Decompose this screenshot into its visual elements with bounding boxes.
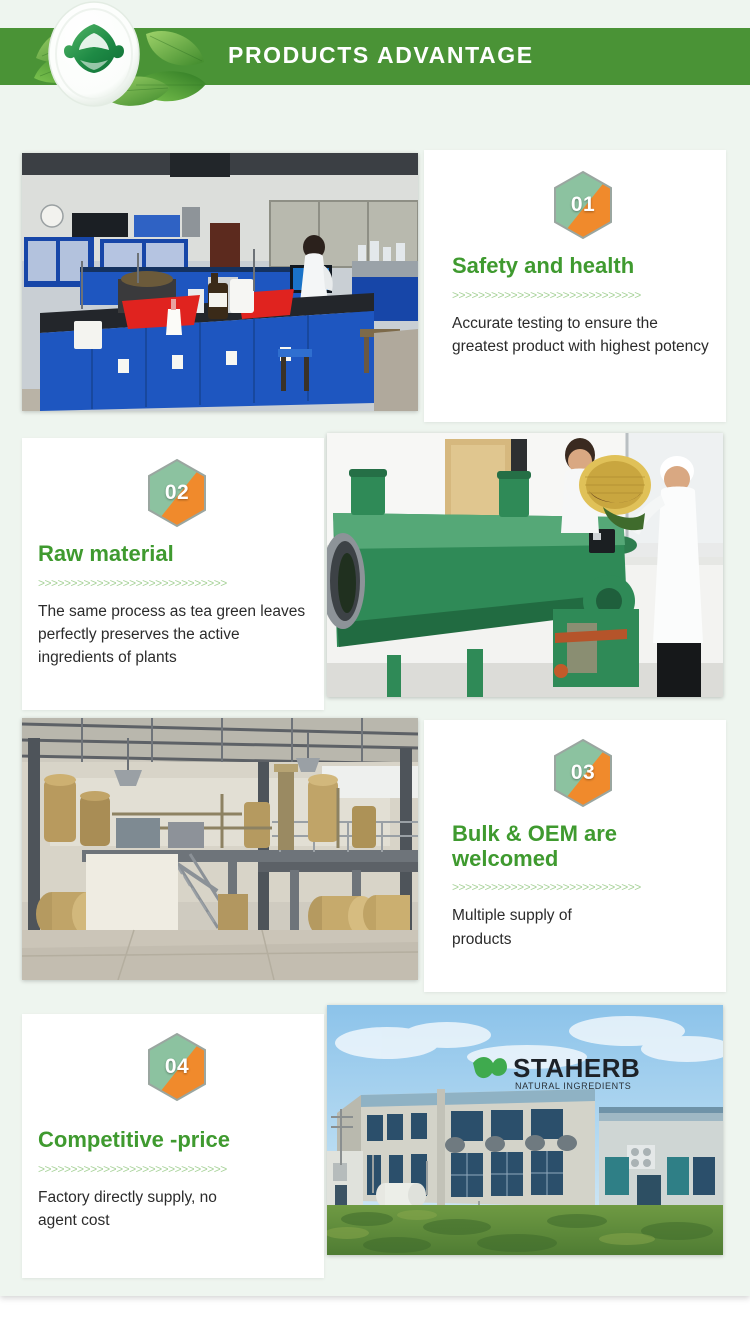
svg-text:STAHERB: STAHERB xyxy=(513,1053,640,1083)
badge-number: 01 xyxy=(552,170,614,240)
laboratory-photo xyxy=(22,153,418,411)
extraction-workshop-photo xyxy=(22,718,418,980)
card-content: 04 Competitive -price >>>>>>>>>>>>>>>>>>… xyxy=(38,1032,310,1232)
number-badge-03: 03 xyxy=(552,738,614,808)
advantage-card-02: 02 Raw material >>>>>>>>>>>>>>>>>>>>>>>>… xyxy=(0,428,750,713)
leaf-recycle-logo-icon xyxy=(28,0,218,115)
chevron-divider: >>>>>>>>>>>>>>>>>>>>>>>>>>>>> xyxy=(452,880,714,894)
chevron-divider: >>>>>>>>>>>>>>>>>>>>>>>>>>>>> xyxy=(452,288,714,302)
card-content: 01 Safety and health >>>>>>>>>>>>>>>>>>>… xyxy=(452,170,714,358)
infographic-page: PRODUCTS ADVANTAGE xyxy=(0,0,750,1296)
page-title: PRODUCTS ADVANTAGE xyxy=(228,42,534,69)
advantage-card-01: 01 Safety and health >>>>>>>>>>>>>>>>>>>… xyxy=(0,140,750,425)
number-badge-01: 01 xyxy=(552,170,614,240)
chevron-divider: >>>>>>>>>>>>>>>>>>>>>>>>>>>>> xyxy=(38,576,310,590)
card-body: The same process as tea green leaves per… xyxy=(38,600,310,670)
card-content: 03 Bulk & OEM are welcomed >>>>>>>>>>>>>… xyxy=(452,738,714,951)
badge-number: 04 xyxy=(146,1032,208,1102)
advantage-card-03: 03 Bulk & OEM are welcomed >>>>>>>>>>>>>… xyxy=(0,710,750,995)
card-heading: Safety and health xyxy=(452,254,714,279)
number-badge-04: 04 xyxy=(146,1032,208,1102)
card-heading: Competitive -price xyxy=(38,1128,310,1153)
card-heading: Bulk & OEM are welcomed xyxy=(452,822,662,871)
number-badge-02: 02 xyxy=(146,458,208,528)
card-body: Multiple supply of products xyxy=(452,904,622,951)
chevron-divider: >>>>>>>>>>>>>>>>>>>>>>>>>>>>> xyxy=(38,1162,310,1176)
advantage-card-04: STAHERB NATURAL INGREDIENTS xyxy=(0,1000,750,1290)
factory-building-photo: STAHERB NATURAL INGREDIENTS xyxy=(327,1005,723,1255)
card-body: Factory directly supply, no agent cost xyxy=(38,1186,248,1233)
card-heading: Raw material xyxy=(38,542,310,567)
badge-number: 03 xyxy=(552,738,614,808)
page-header: PRODUCTS ADVANTAGE xyxy=(0,0,750,115)
badge-number: 02 xyxy=(146,458,208,528)
card-body: Accurate testing to ensure the greatest … xyxy=(452,312,714,359)
card-content: 02 Raw material >>>>>>>>>>>>>>>>>>>>>>>>… xyxy=(38,458,310,669)
tea-roasting-machine-photo xyxy=(327,433,723,697)
svg-text:NATURAL INGREDIENTS: NATURAL INGREDIENTS xyxy=(515,1081,631,1091)
